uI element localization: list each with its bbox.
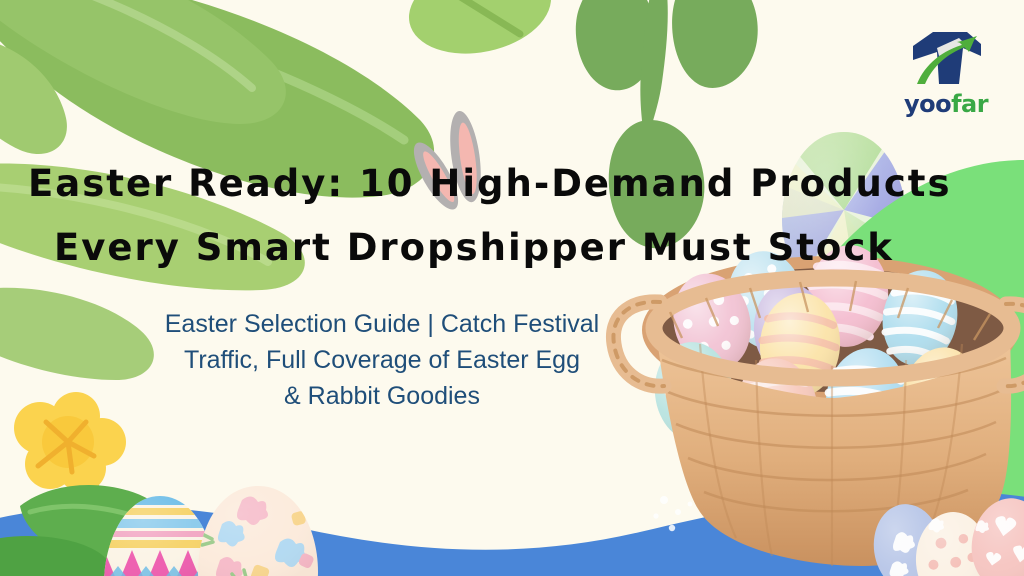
subtitle: Easter Selection Guide | Catch Festival …: [92, 306, 672, 414]
basket-speckles: [653, 496, 692, 531]
patterned-egg-zigzag: [90, 490, 230, 576]
blue-wave: [0, 490, 1024, 576]
subtitle-line-3: & Rabbit Goodies: [92, 378, 672, 414]
yellow-flower: [0, 392, 171, 576]
subtitle-line-1: Easter Selection Guide | Catch Festival: [92, 306, 672, 342]
banner-artwork: [0, 0, 1024, 576]
eggs-bottom-right: [868, 492, 1024, 576]
logo-text-primary: yoo: [904, 90, 951, 118]
logo-text-accent: far: [951, 90, 988, 118]
basket-eggs: [650, 241, 987, 525]
yoofar-mark-icon: [903, 28, 989, 88]
logo-wordmark: yoofar: [890, 91, 1002, 117]
leaf-top-center-light: [400, 0, 559, 66]
easter-promo-banner: Easter Ready: 10 High-Demand Products Ev…: [0, 0, 1024, 576]
headline: Easter Ready: 10 High-Demand Products Ev…: [28, 152, 788, 280]
subtitle-line-2: Traffic, Full Coverage of Easter Egg: [92, 342, 672, 378]
headline-line-2: Every Smart Dropshipper Must Stock: [28, 216, 788, 280]
patterned-egg-floral: [194, 480, 324, 576]
easter-egg-basket: [613, 241, 1024, 566]
green-hill: [767, 160, 1024, 520]
watercolor-geometric-egg: [766, 120, 920, 310]
headline-line-1: Easter Ready: 10 High-Demand Products: [28, 152, 788, 216]
brand-logo[interactable]: yoofar: [890, 28, 1002, 120]
